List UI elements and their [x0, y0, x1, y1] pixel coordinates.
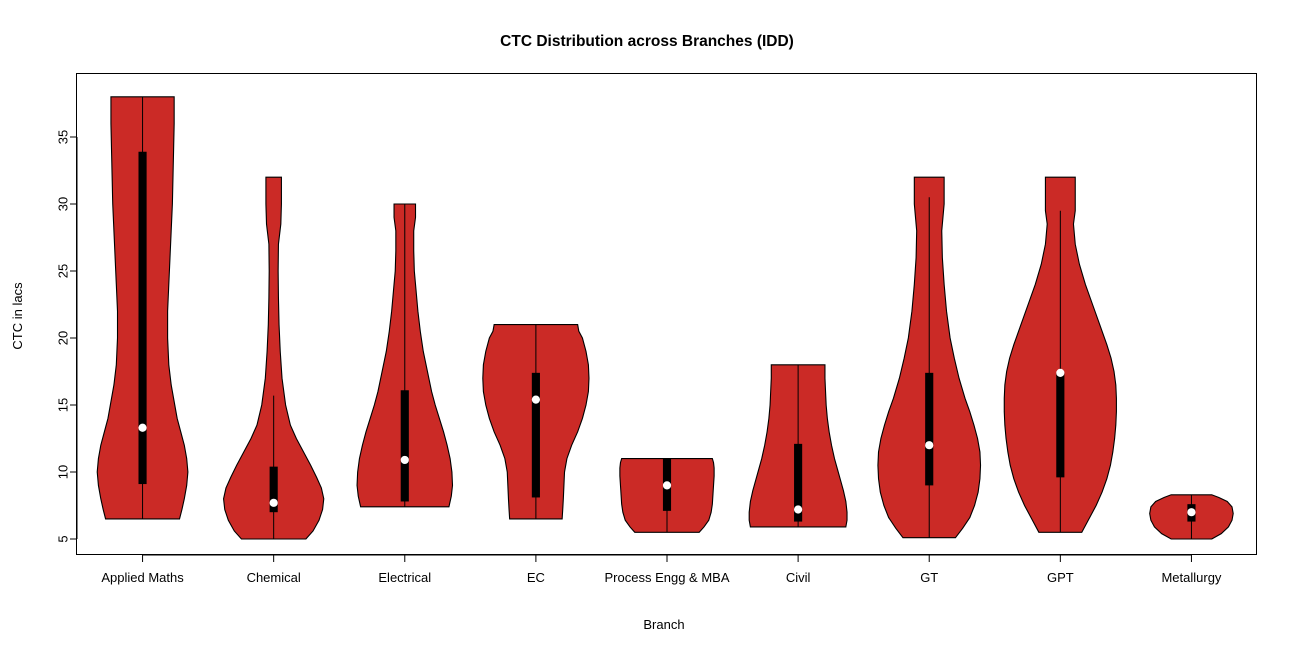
y-tick-label: 20 — [56, 331, 71, 345]
x-tick-label: Electrical — [378, 570, 431, 585]
median-marker — [532, 396, 540, 404]
median-marker — [401, 456, 409, 464]
y-axis: 5101520253035 — [56, 130, 78, 543]
x-axis: Applied MathsChemicalElectricalECProcess… — [101, 555, 1222, 585]
violin-chemical[interactable] — [224, 177, 324, 539]
x-tick-label: GPT — [1047, 570, 1074, 585]
x-tick-label: EC — [527, 570, 545, 585]
y-tick-label: 10 — [56, 465, 71, 479]
interquartile-box — [401, 390, 409, 501]
x-tick-label: Chemical — [247, 570, 301, 585]
y-tick-label: 30 — [56, 197, 71, 211]
y-axis-title: CTC in lacs — [10, 282, 25, 350]
violin-electrical[interactable] — [357, 204, 452, 507]
plot-canvas: CTC Distribution across Branches (IDD) C… — [0, 0, 1294, 653]
y-tick-label: 35 — [56, 130, 71, 144]
violin-metallurgy[interactable] — [1150, 495, 1234, 539]
violin-civil[interactable] — [749, 365, 847, 527]
median-marker — [663, 481, 671, 489]
interquartile-box — [925, 373, 933, 486]
x-tick-label: Applied Maths — [101, 570, 184, 585]
violin-applied-maths[interactable] — [97, 97, 188, 519]
median-marker — [794, 505, 802, 513]
chart-title: CTC Distribution across Branches (IDD) — [500, 33, 794, 50]
violin-process-engg-mba[interactable] — [620, 459, 714, 533]
median-marker — [1187, 508, 1195, 516]
y-tick-label: 5 — [56, 535, 71, 542]
violin-series-group — [97, 97, 1233, 539]
y-tick-label: 15 — [56, 398, 71, 412]
x-tick-label: Civil — [786, 570, 811, 585]
violin-gt[interactable] — [878, 177, 981, 537]
y-tick-label: 25 — [56, 264, 71, 278]
median-marker — [1056, 369, 1064, 377]
median-marker — [138, 424, 146, 432]
x-tick-label: Process Engg & MBA — [605, 570, 730, 585]
interquartile-box — [532, 373, 540, 498]
median-marker — [925, 441, 933, 449]
x-tick-label: Metallurgy — [1161, 570, 1221, 585]
violin-gpt[interactable] — [1004, 177, 1116, 532]
x-axis-title: Branch — [643, 617, 684, 632]
median-marker — [270, 499, 278, 507]
violin-plot-figure: CTC Distribution across Branches (IDD) C… — [0, 0, 1294, 653]
violin-ec[interactable] — [483, 325, 589, 519]
x-tick-label: GT — [920, 570, 938, 585]
interquartile-box — [1056, 373, 1064, 478]
interquartile-box — [138, 152, 146, 484]
